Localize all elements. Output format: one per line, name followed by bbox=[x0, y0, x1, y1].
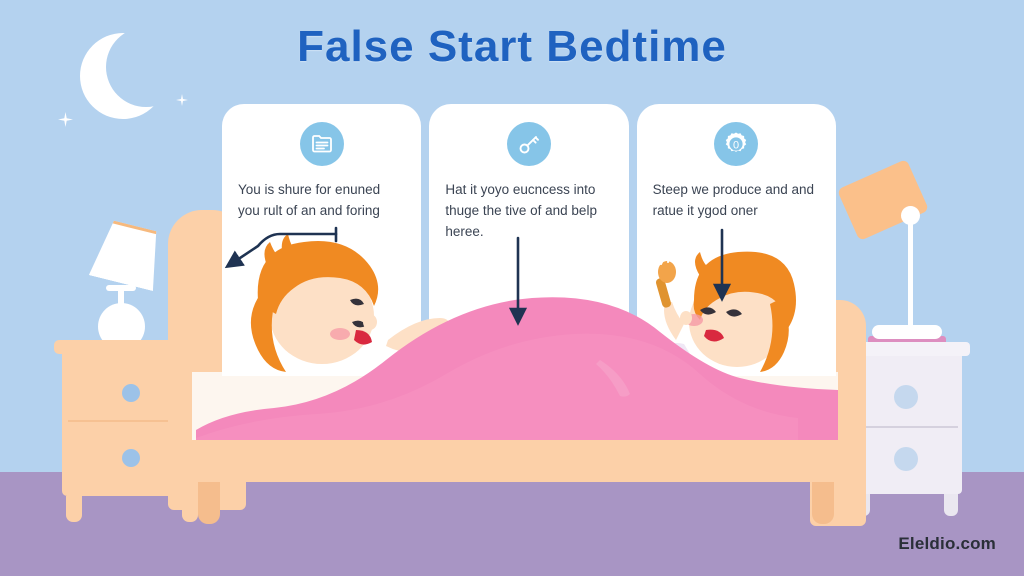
info-card-3-text: Steep we produce and and ratue it ygod o… bbox=[653, 180, 820, 222]
nightstand-right-knob bbox=[894, 385, 918, 409]
nightstand-right-leg bbox=[944, 494, 958, 516]
info-card-2[interactable]: Hat it yoyo eucncess into thuge the tive… bbox=[429, 104, 628, 376]
nightstand-left-knob bbox=[122, 449, 140, 467]
bed-leg bbox=[198, 482, 220, 524]
page-title: False Start Bedtime bbox=[0, 22, 1024, 72]
nightstand-right bbox=[852, 352, 962, 494]
nightstand-right-divider bbox=[856, 426, 958, 428]
info-card-3[interactable]: 0 Steep we produce and and ratue it ygod… bbox=[637, 104, 836, 376]
watermark: Eleldio.com bbox=[898, 534, 996, 554]
nightstand-left-knob bbox=[122, 384, 140, 402]
info-card-row: You is shure for enuned you rult of an a… bbox=[222, 104, 836, 376]
illustration-canvas: False Start Bedtime bbox=[0, 0, 1024, 576]
lamp-right-pole bbox=[908, 213, 913, 329]
info-card-1[interactable]: You is shure for enuned you rult of an a… bbox=[222, 104, 421, 376]
nightstand-left-leg bbox=[66, 496, 82, 522]
bed-leg bbox=[812, 482, 834, 524]
bed-base bbox=[190, 440, 840, 482]
gear-zero-icon: 0 bbox=[714, 122, 758, 166]
document-list-icon bbox=[300, 122, 344, 166]
info-card-2-text: Hat it yoyo eucncess into thuge the tive… bbox=[445, 180, 612, 243]
svg-text:0: 0 bbox=[733, 140, 739, 152]
info-card-1-text: You is shure for enuned you rult of an a… bbox=[238, 180, 405, 222]
nightstand-right-knob bbox=[894, 447, 918, 471]
key-icon bbox=[507, 122, 551, 166]
book-white bbox=[872, 325, 942, 339]
